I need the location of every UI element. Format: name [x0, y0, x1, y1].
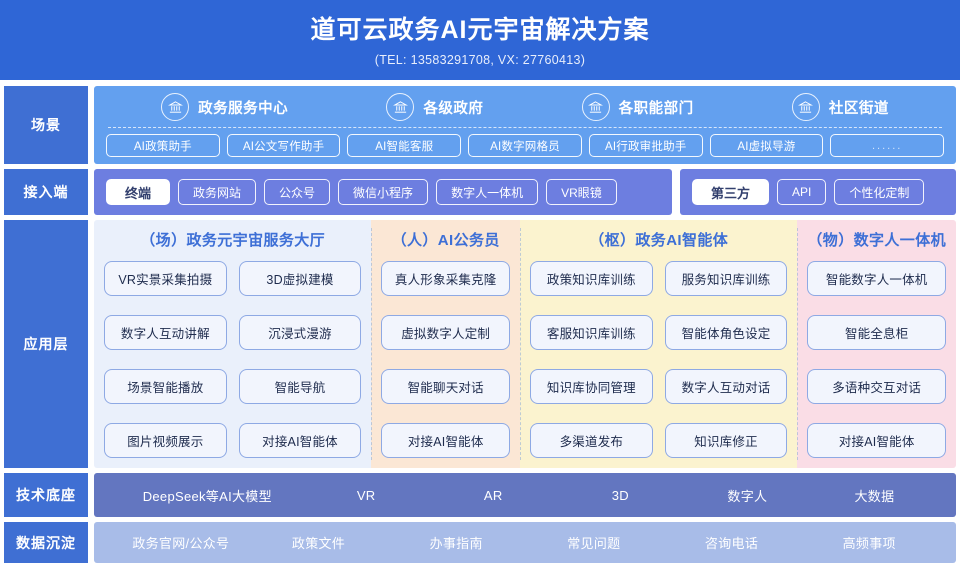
- data-item-hotline[interactable]: 咨询电话: [663, 533, 801, 552]
- application-row: 应用层 （场）政务元宇宙服务大厅 VR实景采集拍摄 3D虚拟建模 数字人互动讲解…: [4, 220, 956, 468]
- app-card-policy-kb-training[interactable]: 政策知识库训练: [530, 261, 653, 296]
- app-card-connect-ai-agent-1[interactable]: 对接AI智能体: [239, 423, 362, 458]
- app-card-3d-modeling[interactable]: 3D虚拟建模: [239, 261, 362, 296]
- page-header: 道可云政务AI元宇宙解决方案 (TEL: 13583291708, VX: 27…: [0, 0, 960, 80]
- scene-item-label: 社区街道: [829, 97, 889, 118]
- row-label-tech: 技术底座: [4, 473, 88, 517]
- scene-pill-smart-customer-service[interactable]: AI智能客服: [347, 134, 461, 157]
- tech-item-big-data[interactable]: 大数据: [811, 486, 938, 505]
- app-card-smart-digital-human-kiosk[interactable]: 智能数字人一体机: [807, 261, 946, 296]
- row-label-scene: 场景: [4, 86, 88, 164]
- access-chip-customization[interactable]: 个性化定制: [834, 179, 924, 205]
- scene-row-body: 政务服务中心 各级政府: [94, 86, 956, 164]
- app-card-support-kb-training[interactable]: 客服知识库训练: [530, 315, 653, 350]
- access-chip-vr-glasses[interactable]: VR眼镜: [546, 179, 617, 205]
- scene-panel: 政务服务中心 各级政府: [94, 86, 956, 164]
- app-card-grid: 智能数字人一体机 智能全息柜 多语种交互对话 对接AI智能体: [807, 261, 946, 458]
- access-row: 接入端 终端 政务网站 公众号 微信小程序 数字人一体机 VR眼镜 第三方 AP…: [4, 169, 956, 215]
- scene-pill-policy-assistant[interactable]: AI政策助手: [106, 134, 220, 157]
- app-card-scene-smart-playback[interactable]: 场景智能播放: [104, 369, 227, 404]
- scene-pill-digital-grid-officer[interactable]: AI数字网格员: [468, 134, 582, 157]
- app-card-digital-human-guide[interactable]: 数字人互动讲解: [104, 315, 227, 350]
- tech-item-llm[interactable]: DeepSeek等AI大模型: [112, 486, 303, 505]
- app-card-multilingual-dialogue[interactable]: 多语种交互对话: [807, 369, 946, 404]
- data-item-high-frequency[interactable]: 高频事项: [800, 533, 938, 552]
- scene-list: 政务服务中心 各级政府: [104, 93, 946, 127]
- app-column-metaverse-hall: （场）政务元宇宙服务大厅 VR实景采集拍摄 3D虚拟建模 数字人互动讲解 沉浸式…: [94, 220, 371, 468]
- scene-item-label: 政务服务中心: [198, 97, 288, 118]
- row-label-data: 数据沉淀: [4, 522, 88, 563]
- access-panels: 终端 政务网站 公众号 微信小程序 数字人一体机 VR眼镜 第三方 API 个性…: [94, 169, 956, 215]
- app-card-kb-correction[interactable]: 知识库修正: [665, 423, 788, 458]
- scene-row: 场景 政务服务中心: [4, 86, 956, 164]
- app-column-title: （场）政务元宇宙服务大厅: [104, 229, 361, 250]
- access-chip-official-account[interactable]: 公众号: [264, 179, 330, 205]
- data-strip: 政务官网/公众号 政策文件 办事指南 常见问题 咨询电话 高频事项: [94, 522, 956, 563]
- app-card-connect-ai-agent-2[interactable]: 对接AI智能体: [381, 423, 510, 458]
- data-item-policy-docs[interactable]: 政策文件: [250, 533, 388, 552]
- row-label-access: 接入端: [4, 169, 88, 215]
- access-panel-main: 终端 政务网站 公众号 微信小程序 数字人一体机 VR眼镜: [94, 169, 672, 215]
- scene-divider: [108, 127, 942, 128]
- government-building-icon: [792, 93, 820, 121]
- tech-strip: DeepSeek等AI大模型 VR AR 3D 数字人 大数据: [94, 473, 956, 517]
- access-row-body: 终端 政务网站 公众号 微信小程序 数字人一体机 VR眼镜 第三方 API 个性…: [94, 169, 956, 215]
- access-chip-wechat-miniprogram[interactable]: 微信小程序: [338, 179, 428, 205]
- access-panel-third-party: 第三方 API 个性化定制: [680, 169, 956, 215]
- government-building-icon: [386, 93, 414, 121]
- tech-item-3d[interactable]: 3D: [557, 488, 684, 503]
- tech-item-ar[interactable]: AR: [430, 488, 557, 503]
- access-chip-api[interactable]: API: [777, 179, 826, 205]
- scene-item-label: 各职能部门: [619, 97, 694, 118]
- scene-item-all-level-government[interactable]: 各级政府: [386, 93, 483, 121]
- tech-item-digital-human[interactable]: 数字人: [684, 486, 811, 505]
- government-building-icon: [161, 93, 189, 121]
- app-column-title: （人）AI公务员: [381, 229, 510, 250]
- app-column-digital-human-kiosk: （物）数字人一体机 智能数字人一体机 智能全息柜 多语种交互对话 对接AI智能体: [797, 220, 956, 468]
- app-card-real-person-clone[interactable]: 真人形象采集克隆: [381, 261, 510, 296]
- app-card-smart-chat[interactable]: 智能聊天对话: [381, 369, 510, 404]
- app-card-virtual-human-custom[interactable]: 虚拟数字人定制: [381, 315, 510, 350]
- access-chip-digital-human-kiosk[interactable]: 数字人一体机: [436, 179, 538, 205]
- scene-pill-more[interactable]: ......: [830, 134, 944, 157]
- application-row-body: （场）政务元宇宙服务大厅 VR实景采集拍摄 3D虚拟建模 数字人互动讲解 沉浸式…: [94, 220, 956, 468]
- tech-item-vr[interactable]: VR: [303, 488, 430, 503]
- app-card-grid: 政策知识库训练 服务知识库训练 客服知识库训练 智能体角色设定 知识库协同管理 …: [530, 261, 787, 458]
- scene-pill-approval-assistant[interactable]: AI行政审批助手: [589, 134, 703, 157]
- app-column-gov-ai-agent: （枢）政务AI智能体 政策知识库训练 服务知识库训练 客服知识库训练 智能体角色…: [520, 220, 797, 468]
- government-building-icon: [582, 93, 610, 121]
- app-card-digital-human-dialogue[interactable]: 数字人互动对话: [665, 369, 788, 404]
- app-column-ai-civil-servant: （人）AI公务员 真人形象采集克隆 虚拟数字人定制 智能聊天对话 对接AI智能体: [371, 220, 520, 468]
- scene-item-government-service-center[interactable]: 政务服务中心: [161, 93, 288, 121]
- solution-architecture-poster: 道可云政务AI元宇宙解决方案 (TEL: 13583291708, VX: 27…: [0, 0, 960, 569]
- app-card-smart-navigation[interactable]: 智能导航: [239, 369, 362, 404]
- app-card-vr-capture[interactable]: VR实景采集拍摄: [104, 261, 227, 296]
- scene-item-functional-departments[interactable]: 各职能部门: [582, 93, 694, 121]
- app-column-title: （物）数字人一体机: [807, 229, 946, 250]
- scene-item-label: 各级政府: [423, 97, 483, 118]
- access-chip-gov-website[interactable]: 政务网站: [178, 179, 256, 205]
- app-card-image-video-display[interactable]: 图片视频展示: [104, 423, 227, 458]
- access-chip-third-party[interactable]: 第三方: [692, 179, 769, 205]
- app-card-service-kb-training[interactable]: 服务知识库训练: [665, 261, 788, 296]
- app-card-smart-hologram-cabinet[interactable]: 智能全息柜: [807, 315, 946, 350]
- app-card-grid: VR实景采集拍摄 3D虚拟建模 数字人互动讲解 沉浸式漫游 场景智能播放 智能导…: [104, 261, 361, 458]
- row-label-application: 应用层: [4, 220, 88, 468]
- data-item-faq[interactable]: 常见问题: [525, 533, 663, 552]
- tech-row: 技术底座 DeepSeek等AI大模型 VR AR 3D 数字人 大数据: [4, 473, 956, 517]
- data-row: 数据沉淀 政务官网/公众号 政策文件 办事指南 常见问题 咨询电话 高频事项: [4, 522, 956, 563]
- data-item-service-guide[interactable]: 办事指南: [387, 533, 525, 552]
- scene-item-community-street[interactable]: 社区街道: [792, 93, 889, 121]
- page-title: 道可云政务AI元宇宙解决方案: [310, 17, 649, 45]
- app-card-immersive-roaming[interactable]: 沉浸式漫游: [239, 315, 362, 350]
- app-column-title: （枢）政务AI智能体: [530, 229, 787, 250]
- app-card-multichannel-publish[interactable]: 多渠道发布: [530, 423, 653, 458]
- app-card-agent-role-setting[interactable]: 智能体角色设定: [665, 315, 788, 350]
- data-row-body: 政务官网/公众号 政策文件 办事指南 常见问题 咨询电话 高频事项: [94, 522, 956, 563]
- scene-pill-list: AI政策助手 AI公文写作助手 AI智能客服 AI数字网格员 AI行政审批助手 …: [104, 134, 946, 157]
- architecture-body: 场景 政务服务中心: [0, 80, 960, 569]
- scene-pill-virtual-guide[interactable]: AI虚拟导游: [710, 134, 824, 157]
- tech-row-body: DeepSeek等AI大模型 VR AR 3D 数字人 大数据: [94, 473, 956, 517]
- application-columns: （场）政务元宇宙服务大厅 VR实景采集拍摄 3D虚拟建模 数字人互动讲解 沉浸式…: [94, 220, 956, 468]
- data-item-gov-site[interactable]: 政务官网/公众号: [112, 533, 250, 552]
- app-card-connect-ai-agent-3[interactable]: 对接AI智能体: [807, 423, 946, 458]
- contact-subtitle: (TEL: 13583291708, VX: 27760413): [375, 53, 585, 67]
- access-chip-terminal[interactable]: 终端: [106, 179, 170, 205]
- app-card-grid: 真人形象采集克隆 虚拟数字人定制 智能聊天对话 对接AI智能体: [381, 261, 510, 458]
- app-card-kb-collab-management[interactable]: 知识库协同管理: [530, 369, 653, 404]
- scene-pill-document-writing-assistant[interactable]: AI公文写作助手: [227, 134, 341, 157]
